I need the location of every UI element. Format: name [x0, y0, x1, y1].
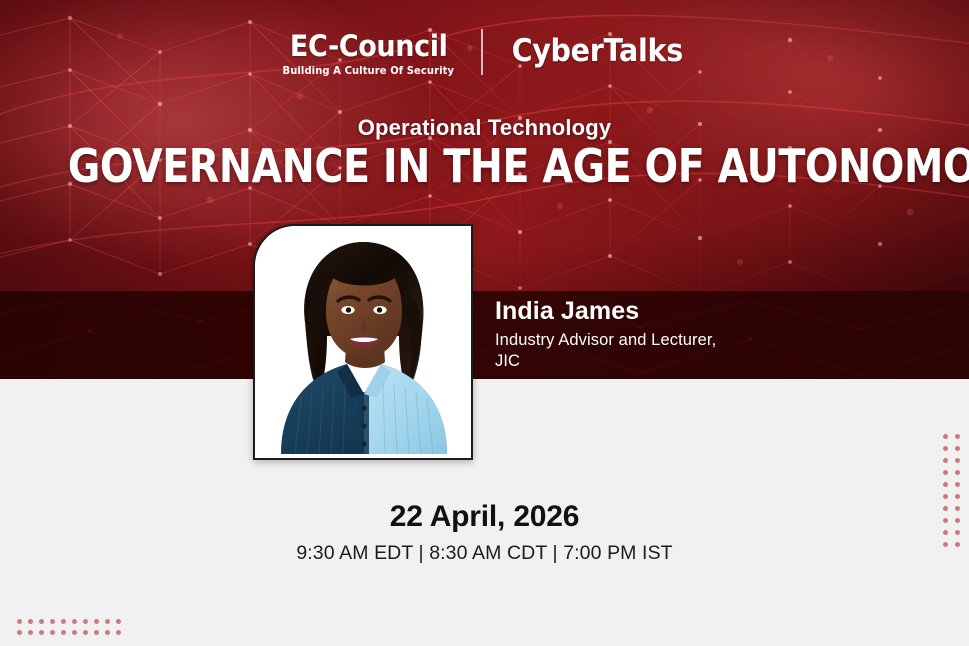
decor-dot — [39, 630, 44, 635]
speaker-portrait-illustration — [255, 226, 467, 454]
decor-dot — [955, 434, 960, 439]
decor-dot — [61, 619, 66, 624]
decor-dot — [105, 619, 110, 624]
decor-dot — [28, 630, 33, 635]
decor-dot — [83, 619, 88, 624]
band-texture — [0, 291, 969, 379]
speaker-band — [0, 291, 969, 379]
decor-dot — [955, 482, 960, 487]
decor-dot — [943, 446, 948, 451]
ec-council-wordmark: EC-Council — [290, 32, 448, 61]
decor-dot — [50, 619, 55, 624]
event-datetime: 22 April, 2026 9:30 AM EDT | 8:30 AM CDT… — [0, 500, 969, 565]
event-times: 9:30 AM EDT | 8:30 AM CDT | 7:00 PM IST — [0, 542, 969, 565]
dot-grid-bottom-left — [14, 616, 124, 638]
ec-council-logo: EC-Council Building A Culture Of Securit… — [278, 32, 481, 77]
ec-council-tagline: Building A Culture Of Security — [283, 66, 455, 77]
decor-dot — [17, 630, 22, 635]
decor-dot — [943, 470, 948, 475]
decor-dot — [955, 470, 960, 475]
decor-dot — [28, 619, 33, 624]
decor-dot — [943, 434, 948, 439]
decor-dot — [943, 482, 948, 487]
speaker-info: India James Industry Advisor and Lecture… — [495, 298, 716, 372]
decor-dot — [94, 619, 99, 624]
decor-dot — [116, 630, 121, 635]
event-date: 22 April, 2026 — [0, 500, 969, 534]
decor-dot — [955, 446, 960, 451]
webinar-banner: EC-Council Building A Culture Of Securit… — [0, 0, 969, 646]
decor-dot — [61, 630, 66, 635]
decor-dot — [72, 630, 77, 635]
cybertalks-wordmark: CyberTalks — [491, 36, 683, 67]
decor-dot — [105, 630, 110, 635]
decor-dot — [955, 494, 960, 499]
speaker-name: India James — [495, 298, 716, 326]
page-title: GOVERNANCE IN THE AGE OF AUTONOMOUS SYST… — [68, 142, 901, 192]
decor-dot — [83, 630, 88, 635]
decor-dot — [955, 458, 960, 463]
speaker-photo — [253, 224, 473, 460]
brand-logo-lockup: EC-Council Building A Culture Of Securit… — [0, 32, 969, 77]
decor-dot — [39, 619, 44, 624]
decor-dot — [116, 619, 121, 624]
decor-dot — [94, 630, 99, 635]
eyebrow-text: Operational Technology — [0, 115, 969, 141]
decor-dot — [72, 619, 77, 624]
decor-dot — [17, 619, 22, 624]
speaker-role: Industry Advisor and Lecturer, JIC — [495, 330, 716, 373]
speaker-role-line-1: Industry Advisor and Lecturer, — [495, 330, 716, 351]
speaker-role-line-2: JIC — [495, 351, 716, 372]
decor-dot — [50, 630, 55, 635]
logo-divider — [481, 29, 483, 75]
decor-dot — [943, 494, 948, 499]
decor-dot — [943, 458, 948, 463]
